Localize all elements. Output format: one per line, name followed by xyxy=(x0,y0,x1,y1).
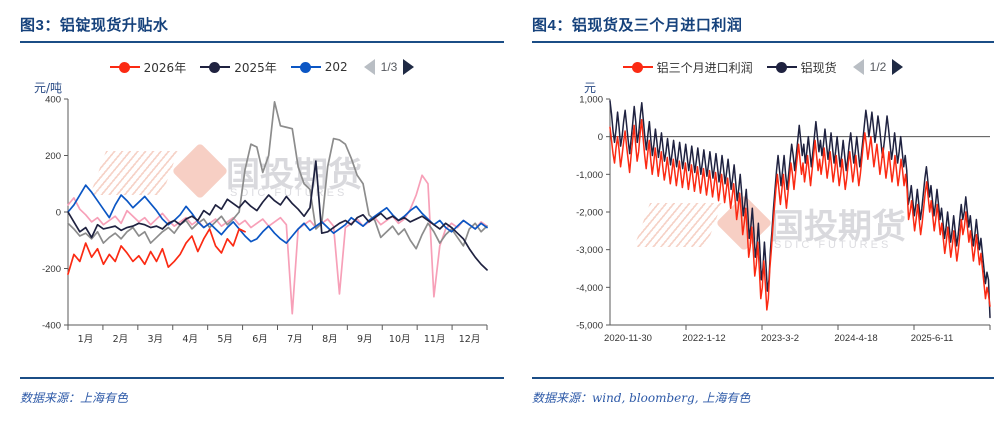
svg-text:-4,000: -4,000 xyxy=(576,283,603,294)
legend-marker-icon xyxy=(623,61,653,73)
legend-marker-icon xyxy=(110,61,140,73)
svg-text:2022-1-12: 2022-1-12 xyxy=(682,333,725,344)
chart-area-right: 元 国投期货 SDIC FUTURES 1,0000-1,000-2,000-3… xyxy=(532,77,994,377)
pager-text-left: 1/3 xyxy=(381,60,398,74)
legend-marker-icon xyxy=(200,61,230,73)
svg-text:-2,000: -2,000 xyxy=(576,208,603,219)
legend-item-2[interactable]: 202 xyxy=(291,60,348,74)
svg-text:0: 0 xyxy=(56,208,61,219)
legend-item-0[interactable]: 铝三个月进口利润 xyxy=(623,59,753,76)
legend-right: 铝三个月进口利润 铝现货 1/2 xyxy=(532,43,994,77)
svg-text:11月: 11月 xyxy=(424,334,446,345)
svg-text:-400: -400 xyxy=(42,321,61,332)
legend-label-1: 铝现货 xyxy=(801,59,837,76)
svg-text:-3,000: -3,000 xyxy=(576,245,603,256)
svg-text:8月: 8月 xyxy=(322,334,338,345)
legend-item-1[interactable]: 铝现货 xyxy=(767,59,837,76)
line-chart-left: 4002000-200-4001月2月3月4月5月6月7月8月9月10月11月1… xyxy=(20,77,520,377)
chart-panel-right: 图4：铝现货及三个月进口利润 铝三个月进口利润 铝现货 1/2 xyxy=(520,0,1002,432)
chart-area-left: 元/吨 国投期货 SDIC FUTURES 4002000-200-4001月2… xyxy=(20,77,504,377)
svg-text:2月: 2月 xyxy=(113,334,129,345)
legend-label-1: 2025年 xyxy=(234,59,277,76)
svg-text:2024-4-18: 2024-4-18 xyxy=(834,333,877,344)
data-source-right: 数据来源：wind, bloomberg, 上海有色 xyxy=(532,379,994,406)
svg-text:6月: 6月 xyxy=(252,334,268,345)
chart-panel-left: 图3：铝锭现货升贴水 2026年 2025年 202 xyxy=(0,0,520,432)
triangle-left-icon[interactable] xyxy=(364,59,375,75)
legend-label-0: 铝三个月进口利润 xyxy=(657,59,753,76)
svg-text:2020-11-30: 2020-11-30 xyxy=(604,333,652,344)
legend-pager-right: 1/2 xyxy=(853,59,904,75)
svg-text:200: 200 xyxy=(45,151,61,162)
svg-text:1月: 1月 xyxy=(78,334,94,345)
svg-text:10月: 10月 xyxy=(389,334,411,345)
legend-pager-left: 1/3 xyxy=(364,59,415,75)
page-title-left: 图3：铝锭现货升贴水 xyxy=(20,0,504,41)
data-source-left: 数据来源：上海有色 xyxy=(20,379,504,406)
legend-left: 2026年 2025年 202 1/3 xyxy=(20,43,504,77)
svg-text:5月: 5月 xyxy=(217,334,233,345)
legend-item-1[interactable]: 2025年 xyxy=(200,59,277,76)
svg-text:1,000: 1,000 xyxy=(579,95,603,106)
svg-text:-1,000: -1,000 xyxy=(576,170,603,181)
legend-marker-icon xyxy=(767,61,797,73)
svg-text:12月: 12月 xyxy=(459,334,481,345)
triangle-right-icon[interactable] xyxy=(892,59,903,75)
svg-text:-5,000: -5,000 xyxy=(576,321,603,332)
dual-chart-page: 图3：铝锭现货升贴水 2026年 2025年 202 xyxy=(0,0,1002,432)
svg-text:2025-6-11: 2025-6-11 xyxy=(911,333,954,344)
page-title-right: 图4：铝现货及三个月进口利润 xyxy=(532,0,994,41)
pager-text-right: 1/2 xyxy=(870,60,887,74)
legend-label-2: 202 xyxy=(325,60,348,74)
triangle-right-icon[interactable] xyxy=(403,59,414,75)
legend-item-0[interactable]: 2026年 xyxy=(110,59,187,76)
triangle-left-icon[interactable] xyxy=(853,59,864,75)
svg-text:0: 0 xyxy=(598,132,603,143)
svg-text:4月: 4月 xyxy=(182,334,198,345)
svg-text:7月: 7月 xyxy=(287,334,303,345)
legend-label-0: 2026年 xyxy=(144,59,187,76)
legend-marker-icon xyxy=(291,61,321,73)
svg-text:3月: 3月 xyxy=(148,334,164,345)
svg-text:-200: -200 xyxy=(42,264,61,275)
svg-text:400: 400 xyxy=(45,95,61,106)
svg-text:9月: 9月 xyxy=(357,334,373,345)
svg-text:2023-3-2: 2023-3-2 xyxy=(761,333,799,344)
line-chart-right: 1,0000-1,000-2,000-3,000-4,000-5,0002020… xyxy=(532,77,1002,377)
